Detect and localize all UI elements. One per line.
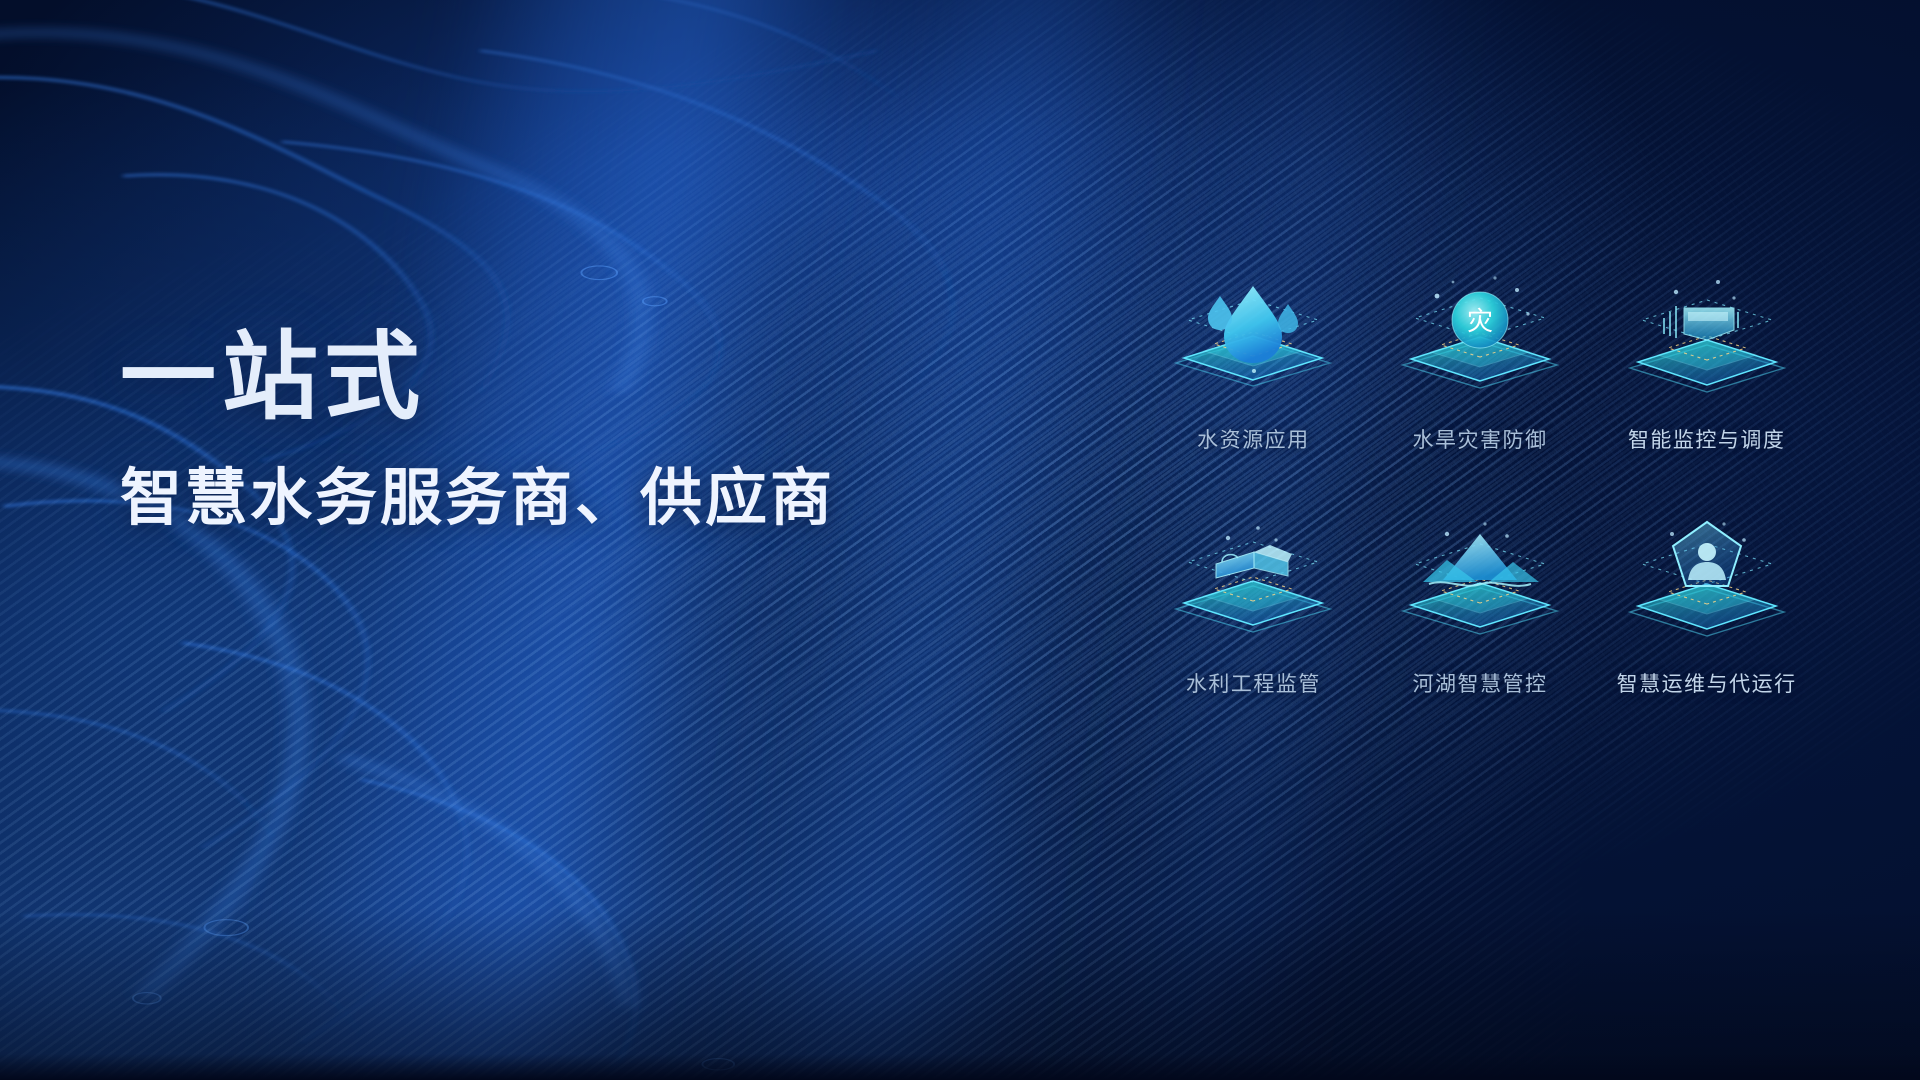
disaster-sphere-icon: 灾: [1385, 268, 1575, 418]
badge-text: 灾: [1467, 307, 1493, 337]
grid-item-label: 智能监控与调度: [1628, 424, 1786, 454]
hero-banner: 一站式 智慧水务服务商、供应商: [0, 0, 1920, 1080]
dam-monitor-icon: [1612, 268, 1802, 418]
water-drop-icon: [1158, 268, 1348, 418]
page-title: 一站式: [120, 330, 835, 426]
grid-item-smart-ops-outsourcing[interactable]: 智慧运维与代运行: [1593, 512, 1820, 698]
grid-item-label: 智慧运维与代运行: [1617, 668, 1797, 698]
river-mountain-icon: [1385, 512, 1575, 662]
bottom-fade-band: [0, 1054, 1920, 1080]
grid-item-smart-monitor-dispatch[interactable]: 智能监控与调度: [1593, 268, 1820, 454]
page-subtitle: 智慧水务服务商、供应商: [120, 466, 835, 531]
background-light-sweep-2: [675, 0, 1199, 1080]
grid-item-label: 水利工程监管: [1186, 668, 1321, 698]
grid-item-hydro-project-supervision[interactable]: 水利工程监管: [1140, 512, 1367, 698]
grid-item-flood-drought-defense[interactable]: 灾 水旱灾害防御: [1367, 268, 1594, 454]
grid-item-river-lake-control[interactable]: 河湖智慧管控: [1367, 512, 1594, 698]
shield-operator-icon: [1612, 512, 1802, 662]
hydro-facility-icon: [1158, 512, 1348, 662]
grid-item-label: 水旱灾害防御: [1412, 424, 1547, 454]
service-icon-grid: 水资源应用: [1140, 268, 1820, 698]
grid-item-water-resource[interactable]: 水资源应用: [1140, 268, 1367, 454]
grid-item-label: 水资源应用: [1197, 424, 1310, 454]
hero-copy: 一站式 智慧水务服务商、供应商: [120, 330, 835, 531]
background-light-sweep-1: [211, 0, 951, 1080]
grid-item-label: 河湖智慧管控: [1412, 668, 1547, 698]
water-texture-overlay: [0, 0, 1075, 1080]
